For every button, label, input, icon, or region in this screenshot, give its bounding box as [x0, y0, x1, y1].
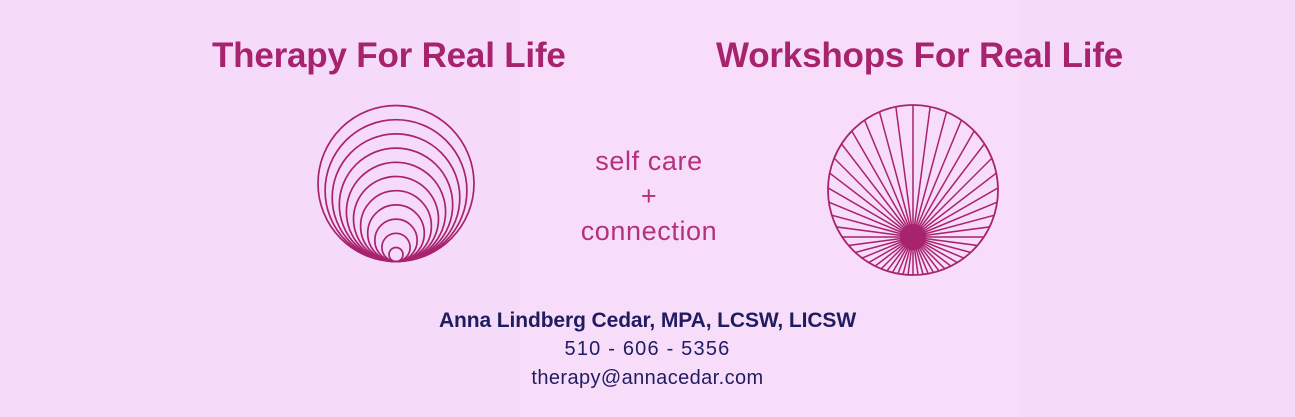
tagline: self care + connection [520, 144, 778, 249]
contact-block: Anna Lindberg Cedar, MPA, LCSW, LICSW 51… [0, 308, 1295, 392]
tagline-line-2: + [520, 179, 778, 214]
tagline-line-3: connection [520, 214, 778, 249]
starburst-icon [818, 104, 1014, 284]
nested-rings-svg [298, 104, 494, 284]
contact-email[interactable]: therapy@annacedar.com [0, 364, 1295, 392]
heading-workshops-for-real-life: Workshops For Real Life [716, 38, 1123, 73]
starburst-hub [900, 224, 926, 250]
practitioner-name: Anna Lindberg Cedar, MPA, LCSW, LICSW [0, 308, 1295, 334]
heading-therapy-for-real-life: Therapy For Real Life [212, 38, 566, 73]
tagline-line-1: self care [520, 144, 778, 179]
promo-banner: Therapy For Real Life Workshops For Real… [0, 0, 1295, 417]
contact-phone[interactable]: 510 - 606 - 5356 [0, 334, 1295, 364]
nested-rings-icon [298, 104, 494, 284]
starburst-svg [818, 104, 1014, 284]
